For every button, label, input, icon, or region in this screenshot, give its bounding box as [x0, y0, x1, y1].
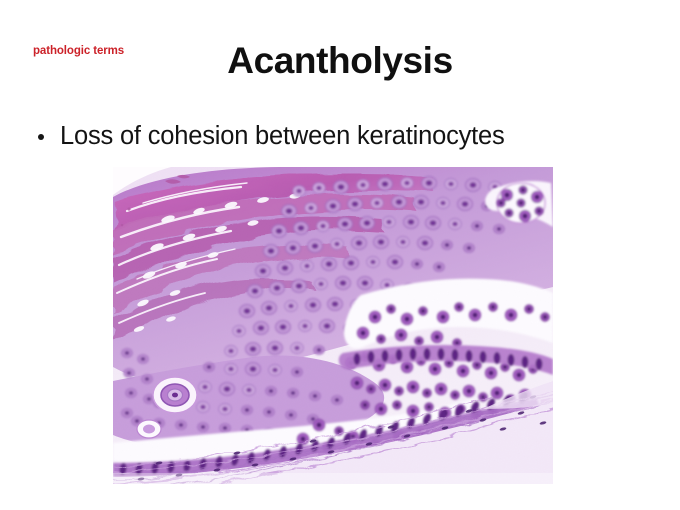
bullet-list-item: Loss of cohesion between keratinocytes: [38, 122, 638, 151]
bullet-dot-icon: [38, 134, 44, 140]
slide-canvas: pathologic terms Acantholysis Loss of co…: [0, 0, 680, 510]
histology-micrograph-figure: [113, 167, 553, 484]
bullet-item-label: Loss of cohesion between keratinocytes: [60, 122, 505, 151]
page-title: Acantholysis: [0, 41, 680, 82]
histology-micrograph-image: [113, 167, 553, 484]
